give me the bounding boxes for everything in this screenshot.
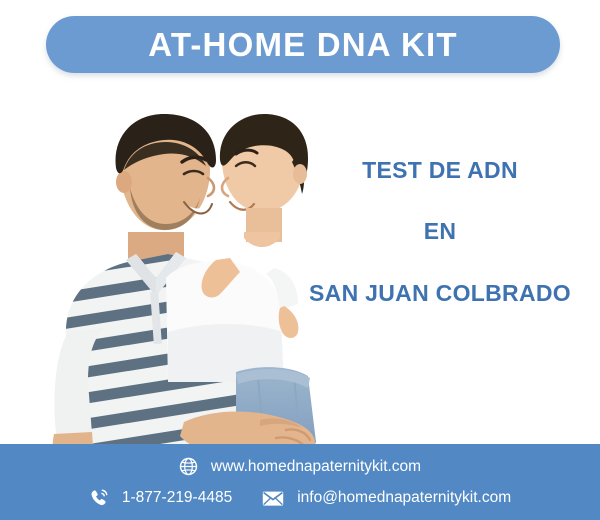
page-title: AT-HOME DNA KIT	[148, 26, 457, 64]
envelope-icon	[262, 490, 284, 507]
headline-line-3: SAN JUAN COLBRADO	[292, 281, 588, 306]
hero-image-illustration	[8, 82, 338, 462]
phone-label[interactable]: 1-877-219-4485	[122, 489, 232, 507]
globe-icon	[179, 457, 198, 476]
header-banner: AT-HOME DNA KIT	[46, 16, 560, 73]
poster-canvas: AT-HOME DNA KIT	[0, 0, 600, 520]
phone-icon	[89, 488, 109, 508]
footer-contact-row: 1-877-219-4485 info@homednapaternitykit.…	[0, 488, 600, 508]
email-label[interactable]: info@homednapaternitykit.com	[297, 489, 511, 507]
headline-line-2: EN	[292, 219, 588, 244]
website-label[interactable]: www.homednapaternitykit.com	[211, 458, 421, 476]
phone-group[interactable]: 1-877-219-4485	[89, 488, 232, 508]
website-group[interactable]: www.homednapaternitykit.com	[179, 457, 421, 476]
headline-block: TEST DE ADN EN SAN JUAN COLBRADO	[292, 158, 588, 306]
hero-image	[8, 82, 338, 462]
email-group[interactable]: info@homednapaternitykit.com	[262, 489, 511, 507]
headline-line-1: TEST DE ADN	[292, 158, 588, 183]
footer-website-row: www.homednapaternitykit.com	[0, 457, 600, 476]
